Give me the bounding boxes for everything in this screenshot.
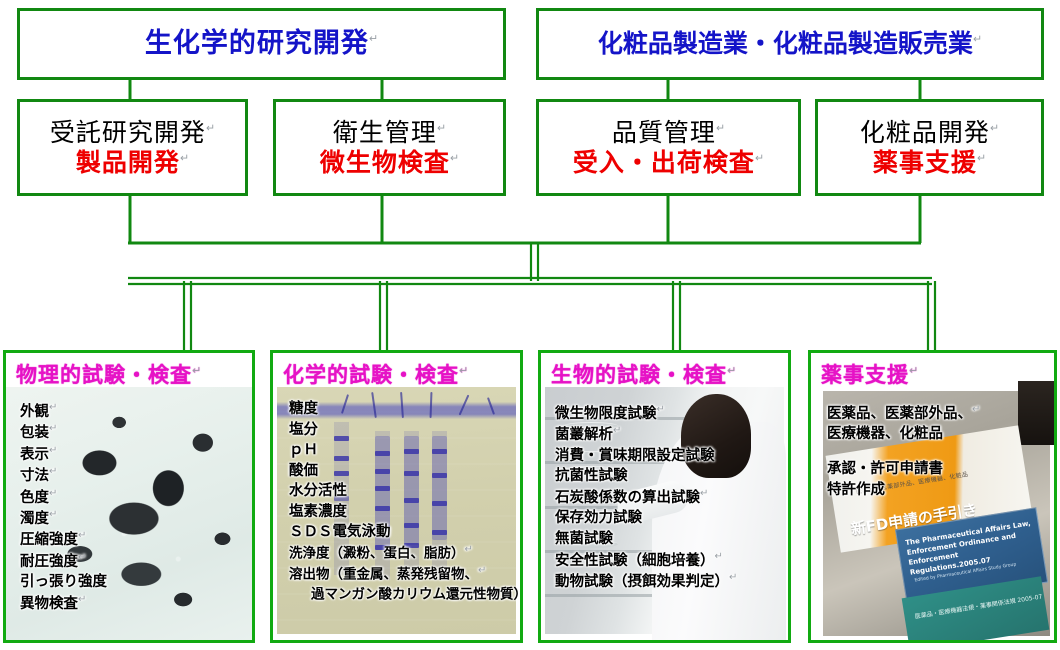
list-item: 安全性試験（細胞培養）↵ bbox=[555, 550, 782, 571]
paragraph-mark-icon: ↵ bbox=[192, 364, 201, 377]
list-item: 洗浄度（澱粉、蛋白、脂肪）↵ bbox=[289, 543, 514, 564]
row2-subtitle: 薬事支援↵ bbox=[873, 149, 986, 177]
regulatory-support-list: 医薬品、医薬部外品、↵ 医療機器、化粧品 承認・許可申請書 特許作成 bbox=[811, 387, 1054, 640]
panel-physical-testing[interactable]: 物理的試験・検査↵ 外観↵ 包装↵ 表示↵ 寸法↵ 色度↵ 濁度↵ 圧縮強度↵ … bbox=[3, 350, 255, 643]
list-item: 酸価 bbox=[289, 461, 514, 482]
list-item: 引っ張り強度 bbox=[20, 572, 246, 593]
paragraph-mark-icon: ↵ bbox=[909, 364, 918, 377]
list-item: 異物検査↵ bbox=[20, 593, 246, 614]
list-item: 過マンガン酸カリウム還元性物質）↵ bbox=[289, 584, 514, 605]
list-item: 保存効力試験 bbox=[555, 508, 782, 529]
list-item: ｐＨ bbox=[289, 440, 514, 461]
row2-title: 品質管理↵ bbox=[612, 119, 725, 147]
top-box-title: 化粧品製造業・化粧品製造販売業↵ bbox=[598, 30, 982, 58]
list-item: 無菌試験 bbox=[555, 529, 782, 550]
list-item: 耐圧強度↵ bbox=[20, 551, 246, 572]
list-item: 動物試験（摂餌効果判定）↵ bbox=[555, 571, 782, 592]
list-item: 表示↵ bbox=[20, 444, 246, 465]
top-box-biochemical-rd[interactable]: 生化学的研究開発↵ bbox=[17, 8, 506, 80]
list-item: 医薬品、医薬部外品、↵ bbox=[827, 403, 1048, 424]
list-item: 医療機器、化粧品 bbox=[827, 424, 1048, 445]
physical-test-list: 外観↵ 包装↵ 表示↵ 寸法↵ 色度↵ 濁度↵ 圧縮強度↵ 耐圧強度↵ 引っ張り… bbox=[6, 387, 252, 640]
list-item: 抗菌性試験 bbox=[555, 466, 782, 487]
row2-subtitle: 微生物検査↵ bbox=[320, 149, 459, 177]
list-item: 特許作成 bbox=[827, 480, 1048, 501]
paragraph-mark-icon: ↵ bbox=[990, 121, 999, 134]
row2-subtitle: 受入・出荷検査↵ bbox=[573, 149, 764, 177]
list-item: 溶出物（重金属、蒸発残留物、↵ bbox=[289, 564, 514, 585]
list-item: 糖度 bbox=[289, 399, 514, 420]
chemical-test-list: 糖度 塩分 ｐＨ 酸価 水分活性 塩素濃度 ＳＤＳ電気泳動 洗浄度（澱粉、蛋白、… bbox=[273, 387, 520, 640]
paragraph-mark-icon: ↵ bbox=[369, 32, 378, 45]
paragraph-mark-icon: ↵ bbox=[755, 151, 764, 164]
paragraph-mark-icon: ↵ bbox=[716, 121, 725, 134]
paragraph-mark-icon: ↵ bbox=[973, 33, 982, 46]
panel-title: 薬事支援↵ bbox=[811, 353, 1054, 391]
panel-title: 化学的試験・検査↵ bbox=[273, 353, 520, 391]
diagram-canvas: 生化学的研究開発↵ 化粧品製造業・化粧品製造販売業↵ 受託研究開発↵ 製品開発↵… bbox=[0, 0, 1060, 650]
row2-box-cosmetics-development[interactable]: 化粧品開発↵ 薬事支援↵ bbox=[815, 99, 1044, 196]
biological-test-list: 微生物限度試験↵ 菌叢解析↵ 消費・賞味期限設定試験 抗菌性試験 石炭酸係数の算… bbox=[541, 387, 788, 640]
panel-regulatory-affairs-support[interactable]: 薬事支援↵ 医薬品、医薬部外品、医療機器、化粧品 新FD申請の手引き The P… bbox=[808, 350, 1057, 643]
top-box-cosmetics-manufacturing[interactable]: 化粧品製造業・化粧品製造販売業↵ bbox=[536, 8, 1044, 80]
list-item: ＳＤＳ電気泳動 bbox=[289, 522, 514, 543]
list-item: 石炭酸係数の算出試験↵ bbox=[555, 487, 782, 508]
row2-title: 化粧品開発↵ bbox=[860, 119, 999, 147]
row2-box-quality-control[interactable]: 品質管理↵ 受入・出荷検査↵ bbox=[536, 99, 801, 196]
list-item: 塩分 bbox=[289, 420, 514, 441]
panel-title: 生物的試験・検査↵ bbox=[541, 353, 788, 391]
list-item: 水分活性 bbox=[289, 481, 514, 502]
list-item: 濁度↵ bbox=[20, 508, 246, 529]
list-item: 色度↵ bbox=[20, 487, 246, 508]
paragraph-mark-icon: ↵ bbox=[459, 364, 468, 377]
list-item: 消費・賞味期限設定試験 bbox=[555, 446, 782, 467]
panel-biological-testing[interactable]: 生物的試験・検査↵ 微生物限度試 bbox=[538, 350, 791, 643]
list-item: 包装↵ bbox=[20, 422, 246, 443]
paragraph-mark-icon: ↵ bbox=[450, 151, 459, 164]
row2-title: 受託研究開発↵ bbox=[50, 119, 215, 147]
list-item: 外観↵ bbox=[20, 401, 246, 422]
list-item: 菌叢解析↵ bbox=[555, 424, 782, 445]
panel-chemical-testing[interactable]: 化学的試験・検査↵ bbox=[270, 350, 523, 643]
paragraph-mark-icon: ↵ bbox=[437, 121, 446, 134]
paragraph-mark-icon: ↵ bbox=[977, 151, 986, 164]
paragraph-mark-icon: ↵ bbox=[180, 151, 189, 164]
paragraph-mark-icon: ↵ bbox=[206, 121, 215, 134]
list-item: 微生物限度試験↵ bbox=[555, 403, 782, 424]
list-item: 寸法↵ bbox=[20, 465, 246, 486]
row2-title: 衛生管理↵ bbox=[333, 119, 446, 147]
paragraph-mark-icon: ↵ bbox=[727, 364, 736, 377]
list-item: 承認・許可申請書 bbox=[827, 459, 1048, 480]
row2-box-hygiene-management[interactable]: 衛生管理↵ 微生物検査↵ bbox=[273, 99, 506, 196]
list-spacer bbox=[827, 445, 1048, 459]
panel-title: 物理的試験・検査↵ bbox=[6, 353, 252, 391]
list-item: 圧縮強度↵ bbox=[20, 529, 246, 550]
row2-box-contract-rd[interactable]: 受託研究開発↵ 製品開発↵ bbox=[17, 99, 248, 196]
top-box-title: 生化学的研究開発↵ bbox=[145, 29, 378, 59]
row2-subtitle: 製品開発↵ bbox=[76, 149, 189, 177]
list-item: 塩素濃度 bbox=[289, 502, 514, 523]
